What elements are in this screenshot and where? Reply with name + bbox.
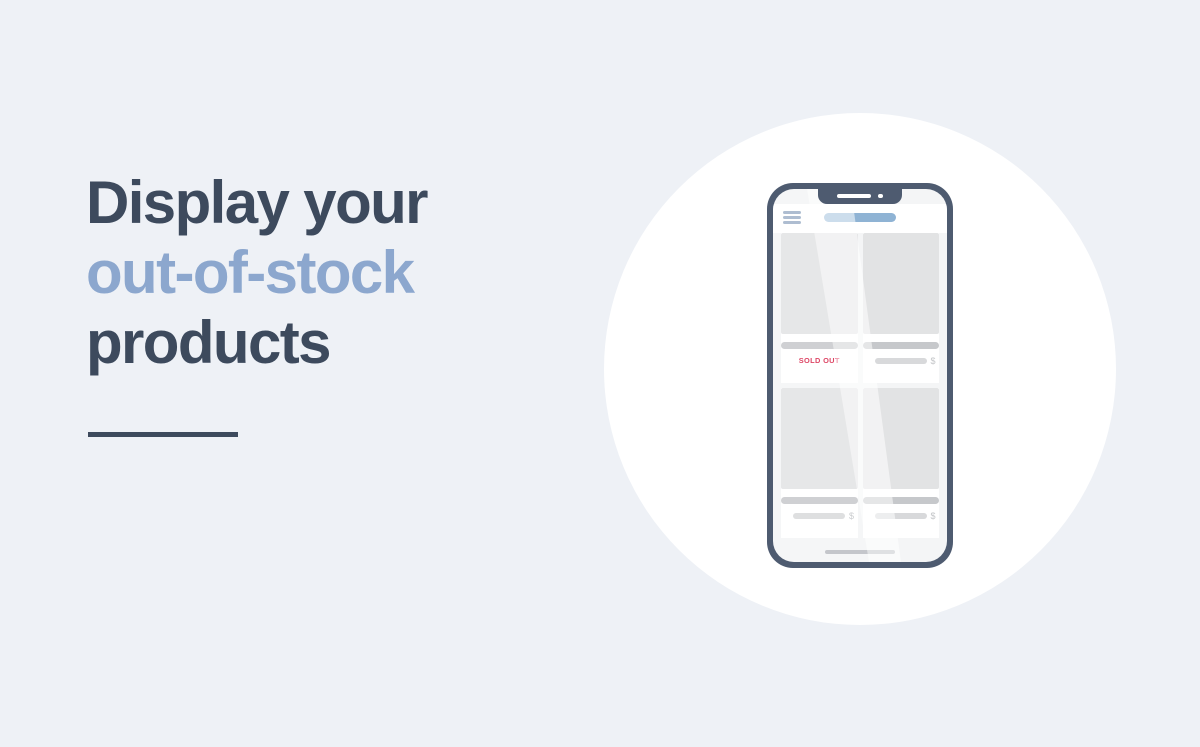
sold-out-badge: SOLD OUT	[781, 356, 858, 365]
product-image-placeholder	[863, 233, 940, 334]
product-card[interactable]: $	[781, 388, 858, 538]
currency-symbol: $	[931, 357, 936, 366]
product-price-row: $	[863, 512, 940, 521]
product-image-placeholder	[863, 388, 940, 489]
phone-notch	[818, 189, 902, 204]
hamburger-menu-icon[interactable]	[783, 211, 801, 224]
home-indicator-bar	[825, 550, 895, 555]
phone-screen: SOLD OUT $ $	[773, 189, 947, 562]
product-title-placeholder	[781, 342, 858, 349]
hamburger-line	[783, 211, 801, 214]
front-camera-icon	[878, 194, 883, 199]
store-logo-bar	[824, 213, 896, 222]
currency-symbol: $	[849, 512, 854, 521]
product-image-placeholder	[781, 388, 858, 489]
headline-underline-rule	[88, 432, 238, 437]
speaker-slot-icon	[837, 194, 871, 198]
product-price-placeholder	[875, 513, 927, 519]
illustration-canvas: Display your out-of-stock products	[0, 0, 1200, 747]
product-card[interactable]: $	[863, 233, 940, 383]
phone-mockup: SOLD OUT $ $	[767, 183, 953, 568]
product-price-placeholder	[793, 513, 845, 519]
headline-line-2: out-of-stock	[86, 238, 556, 308]
currency-symbol: $	[931, 512, 936, 521]
headline-block: Display your out-of-stock products	[86, 168, 556, 378]
hamburger-line	[783, 216, 801, 219]
product-title-placeholder	[863, 497, 940, 504]
product-grid: SOLD OUT $ $	[773, 233, 947, 538]
product-price-row: $	[781, 512, 858, 521]
product-card[interactable]: $	[863, 388, 940, 538]
product-card-sold-out[interactable]: SOLD OUT	[781, 233, 858, 383]
hamburger-line	[783, 221, 801, 224]
product-price-placeholder	[875, 358, 927, 364]
product-title-placeholder	[781, 497, 858, 504]
product-price-row: $	[863, 357, 940, 366]
product-title-placeholder	[863, 342, 940, 349]
headline-line-3: products	[86, 308, 556, 378]
headline-line-1: Display your	[86, 168, 556, 238]
app-top-bar	[773, 204, 947, 233]
product-image-placeholder	[781, 233, 858, 334]
